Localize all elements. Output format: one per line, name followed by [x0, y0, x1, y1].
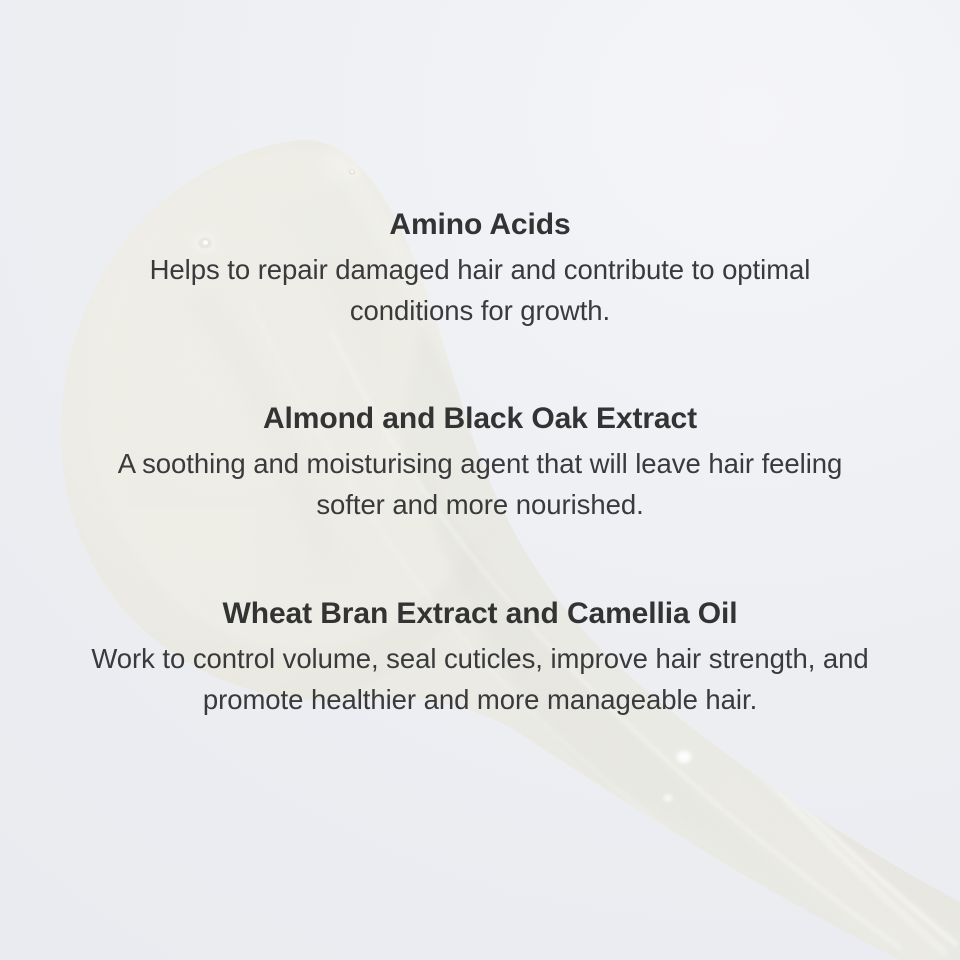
ingredient-block-amino-acids: Amino Acids Helps to repair damaged hair… — [0, 206, 960, 331]
ingredient-block-wheat-bran-camellia-oil: Wheat Bran Extract and Camellia Oil Work… — [0, 595, 960, 720]
ingredient-block-almond-black-oak-extract: Almond and Black Oak Extract A soothing … — [0, 400, 960, 525]
ingredient-description: A soothing and moisturising agent that w… — [80, 444, 880, 524]
ingredient-heading: Amino Acids — [0, 206, 960, 244]
ingredient-text-content: Amino Acids Helps to repair damaged hair… — [0, 0, 960, 960]
ingredient-description: Work to control volume, seal cuticles, i… — [75, 639, 885, 719]
ingredient-heading: Wheat Bran Extract and Camellia Oil — [0, 595, 960, 633]
ingredient-benefits-graphic: Amino Acids Helps to repair damaged hair… — [0, 0, 960, 960]
ingredient-heading: Almond and Black Oak Extract — [0, 400, 960, 438]
ingredient-description: Helps to repair damaged hair and contrib… — [85, 250, 875, 330]
